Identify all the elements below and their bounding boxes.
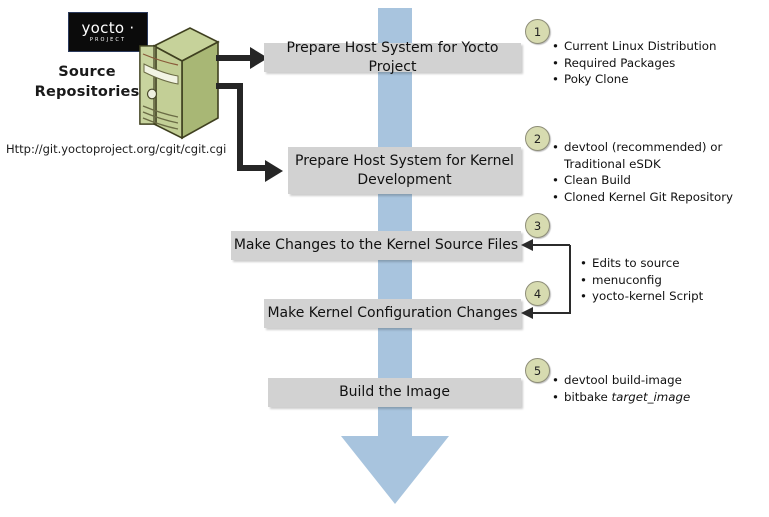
step5-bullet-list: devtool build-image bitbake target_image <box>552 372 767 405</box>
step-circle-5-number: 5 <box>534 364 541 378</box>
list-item: bitbake target_image <box>552 389 767 406</box>
step-circle-1: 1 <box>525 19 550 44</box>
process-box-step5[interactable]: Build the Image <box>268 378 521 407</box>
yocto-logo-wordmark: yocto · <box>82 21 135 36</box>
list-item: Required Packages <box>552 55 767 72</box>
server-tower-icon <box>128 26 220 146</box>
yocto-logo-subtext: PROJECT <box>90 38 126 43</box>
process-box-step1[interactable]: Prepare Host System for Yocto Project <box>264 43 521 72</box>
step3-step4-shared-bullet-list: Edits to source menuconfig yocto-kernel … <box>580 255 765 305</box>
list-item: devtool build-image <box>552 372 767 389</box>
list-item: devtool (recommended) or Traditional eSD… <box>552 139 764 172</box>
connector-server-to-step1 <box>216 55 252 61</box>
list-item: Poky Clone <box>552 71 767 88</box>
bracket-connector-top-arrowhead <box>521 239 533 251</box>
process-box-step3[interactable]: Make Changes to the Kernel Source Files <box>231 231 521 260</box>
step-circle-4-number: 4 <box>534 287 541 301</box>
step2-bullet-list: devtool (recommended) or Traditional eSD… <box>552 139 764 205</box>
step1-bullet-list: Current Linux Distribution Required Pack… <box>552 38 767 88</box>
step-circle-2: 2 <box>525 126 550 151</box>
process-box-step2[interactable]: Prepare Host System for Kernel Developme… <box>288 147 521 194</box>
list-item: Clean Build <box>552 172 764 189</box>
process-box-step3-label: Make Changes to the Kernel Source Files <box>234 236 518 255</box>
list-item-text: bitbake <box>564 390 612 404</box>
bracket-connector-bottom-branch <box>530 312 570 314</box>
connector-server-to-step2-arrowhead <box>265 160 283 182</box>
bracket-connector-top-branch <box>530 244 570 246</box>
list-item: Cloned Kernel Git Repository <box>552 189 764 206</box>
list-item: yocto-kernel Script <box>580 288 765 305</box>
step-circle-4: 4 <box>525 281 550 306</box>
process-box-step5-label: Build the Image <box>339 383 450 402</box>
process-box-step4[interactable]: Make Kernel Configuration Changes <box>264 299 521 328</box>
connector-server-to-step2-vertical <box>237 83 243 171</box>
step-circle-1-number: 1 <box>534 25 541 39</box>
main-flow-arrow-head <box>341 436 449 504</box>
bracket-connector-bottom-arrowhead <box>521 307 533 319</box>
step-circle-2-number: 2 <box>534 132 541 146</box>
process-box-step2-label: Prepare Host System for Kernel Developme… <box>288 152 521 190</box>
process-box-step1-label: Prepare Host System for Yocto Project <box>264 39 521 77</box>
list-item-emphasis: target_image <box>612 390 691 404</box>
bracket-connector-vertical <box>569 245 571 314</box>
step-circle-3: 3 <box>525 213 550 238</box>
list-item: Current Linux Distribution <box>552 38 767 55</box>
step-circle-3-number: 3 <box>534 219 541 233</box>
step-circle-5: 5 <box>525 358 550 383</box>
process-box-step4-label: Make Kernel Configuration Changes <box>267 304 517 323</box>
list-item: Edits to source <box>580 255 765 272</box>
list-item: menuconfig <box>580 272 765 289</box>
